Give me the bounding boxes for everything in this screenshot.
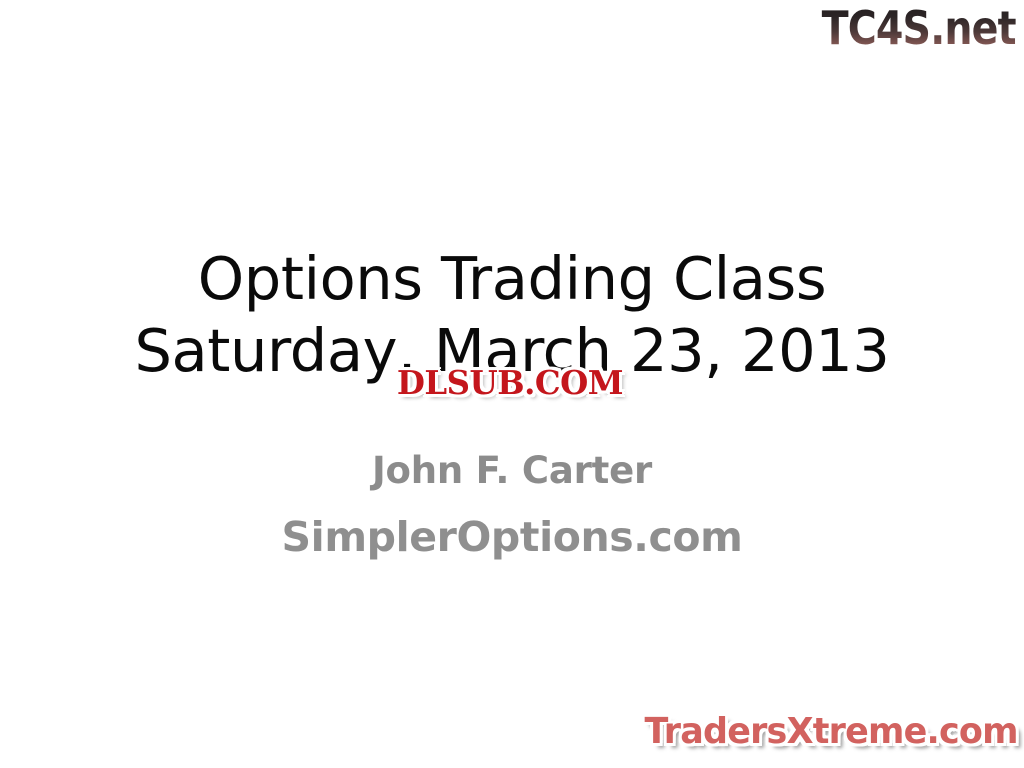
title-line-1: Options Trading Class [0, 243, 1024, 315]
slide-title: Options Trading Class Saturday, March 23… [0, 243, 1024, 387]
tc4s-logo: TC4S.net [822, 2, 1016, 54]
slide-subtitle: John F. Carter SimplerOptions.com [0, 444, 1024, 562]
tradersxtreme-logo: TradersXtreme.com [645, 711, 1018, 752]
presentation-slide: TC4S.net Options Trading Class Saturday,… [0, 0, 1024, 768]
title-line-2: Saturday, March 23, 2013 [0, 315, 1024, 387]
presenter-website: SimplerOptions.com [0, 512, 1024, 562]
presenter-name: John F. Carter [0, 444, 1024, 498]
